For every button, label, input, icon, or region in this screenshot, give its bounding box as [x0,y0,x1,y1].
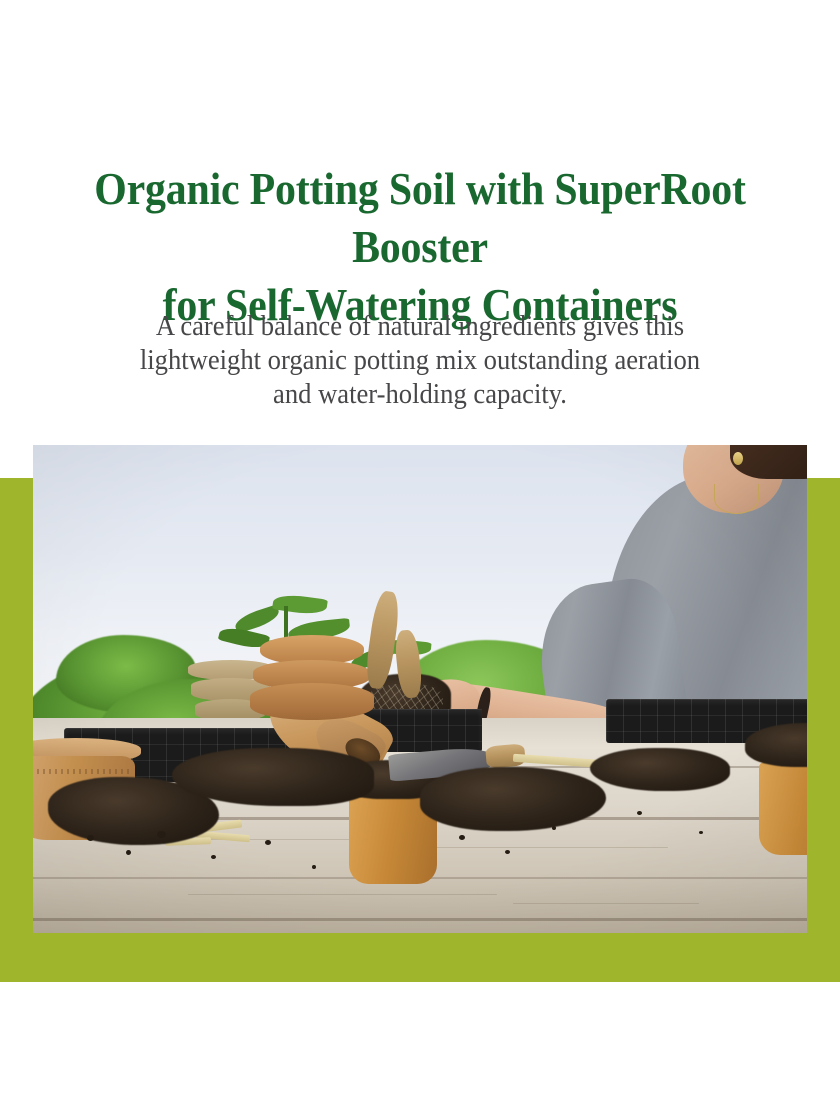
soil-crumb [312,865,316,869]
plank-seam [33,918,807,921]
headline-block: Organic Potting Soil with SuperRoot Boos… [0,160,840,334]
soil-crumb [699,831,703,834]
subheadline-block: A careful balance of natural ingredients… [0,310,840,412]
spilled-soil-right [420,767,606,830]
product-feature-page: Organic Potting Soil with SuperRoot Boos… [0,0,840,1120]
plank-grain [188,894,498,895]
soil-crumb [552,826,556,830]
soil-crumb [637,811,642,815]
soil-crumb [211,855,216,859]
soil-crumb [157,831,166,838]
plank-grain [513,903,699,904]
soil-crumb [126,850,131,855]
person-necklace [714,484,759,514]
photo-content [33,445,807,933]
plank-grain [435,847,667,848]
person-earring [733,452,743,465]
gardening-photo [33,445,807,933]
page-title: Organic Potting Soil with SuperRoot Boos… [29,160,810,334]
terracotta-bowl-stack [250,635,374,723]
page-subtitle: A careful balance of natural ingredients… [97,310,743,412]
